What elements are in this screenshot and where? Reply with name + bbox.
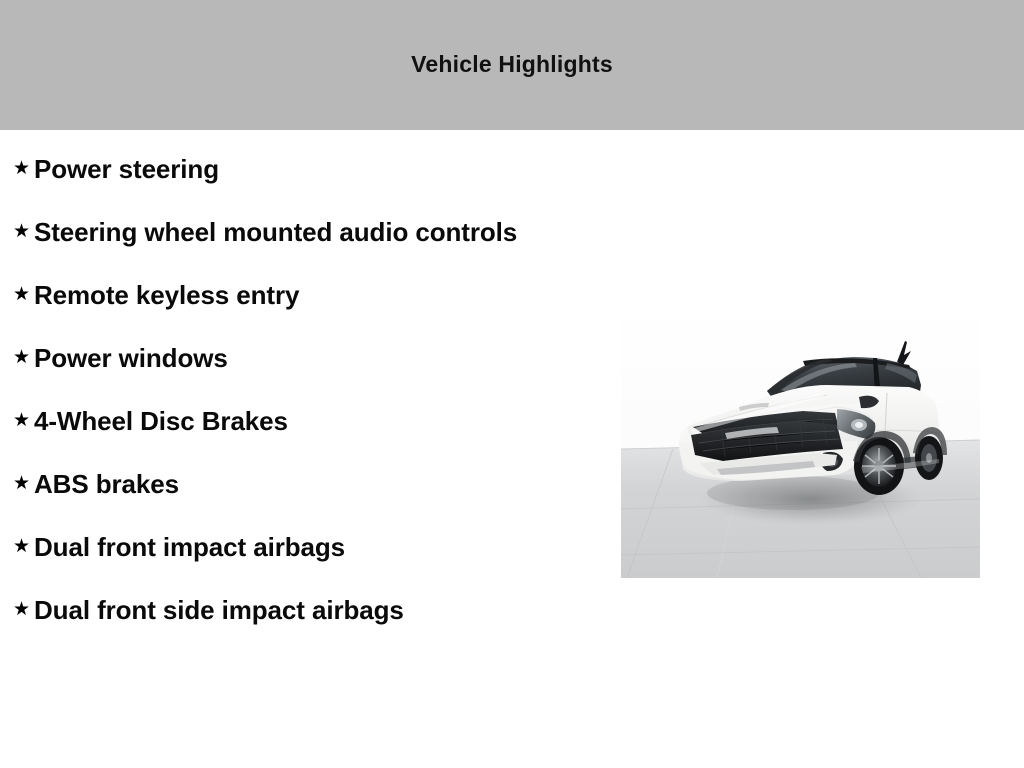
star-icon: ★ bbox=[0, 215, 34, 249]
vehicle-photo-image bbox=[621, 303, 980, 578]
star-icon: ★ bbox=[0, 341, 34, 375]
feature-label: 4-Wheel Disc Brakes bbox=[34, 404, 544, 438]
list-item: ★ Power windows bbox=[0, 341, 600, 375]
star-icon: ★ bbox=[0, 530, 34, 564]
list-item: ★ Power steering bbox=[0, 152, 600, 186]
feature-label: Dual front side impact airbags bbox=[34, 593, 544, 627]
feature-label: Power windows bbox=[34, 341, 544, 375]
list-item: ★ Dual front impact airbags bbox=[0, 530, 600, 564]
vehicle-highlights-list: ★ Power steering ★ Steering wheel mounte… bbox=[0, 130, 600, 627]
list-item: ★ Dual front side impact airbags bbox=[0, 593, 600, 627]
star-icon: ★ bbox=[0, 404, 34, 438]
page-title: Vehicle Highlights bbox=[411, 51, 613, 78]
vehicle-photo bbox=[621, 303, 980, 578]
list-item: ★ ABS brakes bbox=[0, 467, 600, 501]
star-icon: ★ bbox=[0, 593, 34, 627]
star-icon: ★ bbox=[0, 152, 34, 186]
header-bar: Vehicle Highlights bbox=[0, 0, 1024, 130]
feature-label: Steering wheel mounted audio controls bbox=[34, 215, 544, 249]
list-item: ★ Remote keyless entry bbox=[0, 278, 600, 312]
star-icon: ★ bbox=[0, 467, 34, 501]
feature-label: Power steering bbox=[34, 152, 544, 186]
list-item: ★ Steering wheel mounted audio controls bbox=[0, 215, 600, 249]
star-icon: ★ bbox=[0, 278, 34, 312]
feature-label: Dual front impact airbags bbox=[34, 530, 544, 564]
content-area: ★ Power steering ★ Steering wheel mounte… bbox=[0, 130, 1024, 768]
feature-label: Remote keyless entry bbox=[34, 278, 544, 312]
feature-label: ABS brakes bbox=[34, 467, 544, 501]
list-item: ★ 4-Wheel Disc Brakes bbox=[0, 404, 600, 438]
